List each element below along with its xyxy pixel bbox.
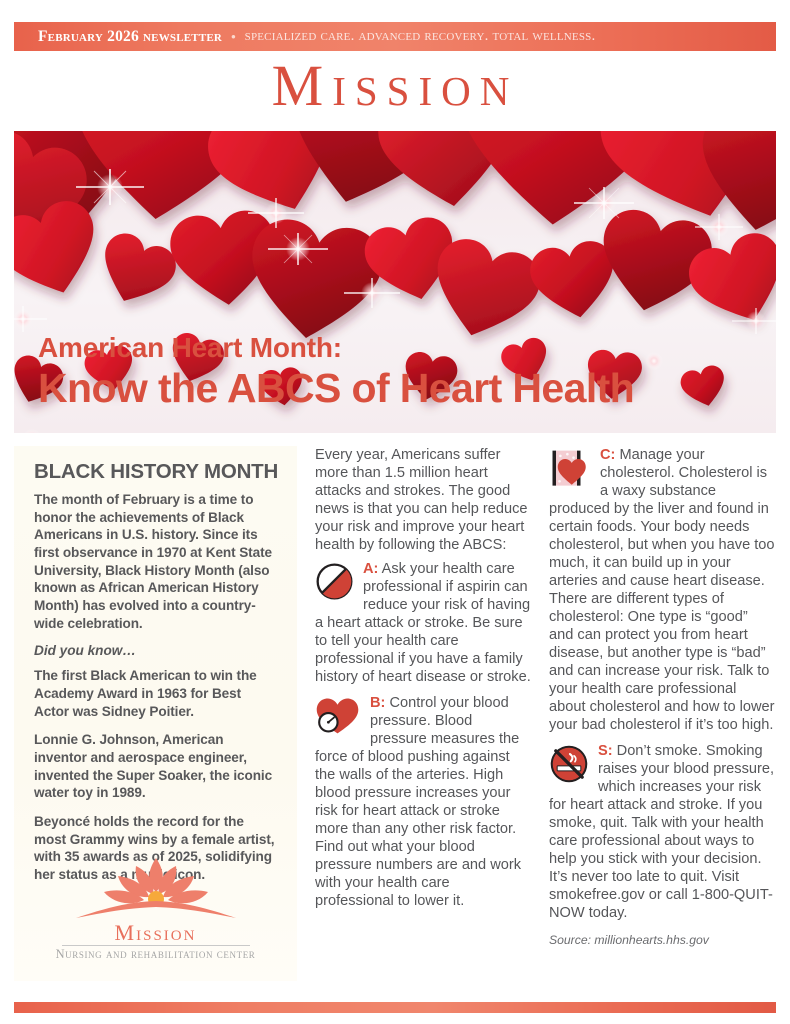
sidebar-title: BLACK HISTORY MONTH	[34, 460, 279, 484]
tagline: Specialized Care. Advanced Recovery. Tot…	[245, 28, 596, 45]
aspirin-pill-icon	[315, 562, 354, 601]
issue-label: February 2026 Newsletter	[38, 28, 222, 46]
abcs-item-c: C: Manage your cholesterol. Cholesterol …	[549, 446, 776, 736]
article-column-middle: Every year, Americans suffer more than 1…	[315, 446, 531, 917]
newsletter-page: February 2026 Newsletter • Specialized C…	[0, 0, 790, 1024]
masthead: Mission	[0, 56, 790, 117]
abcs-item-a: A: Ask your health care professional if …	[315, 560, 531, 688]
article-column-right: C: Manage your cholesterol. Cholesterol …	[549, 446, 776, 948]
hero-kicker: American Heart Month:	[38, 332, 758, 364]
no-smoking-icon	[549, 744, 589, 784]
lotus-flower-icon	[56, 852, 256, 924]
abcs-letter-a: A:	[363, 561, 378, 577]
bottom-banner	[14, 1002, 776, 1013]
abcs-letter-s: S:	[598, 743, 613, 759]
content-columns: BLACK HISTORY MONTH The month of Februar…	[14, 446, 776, 981]
abcs-letter-c: C:	[600, 447, 615, 463]
logo-divider	[62, 945, 250, 946]
top-banner: February 2026 Newsletter • Specialized C…	[14, 22, 776, 51]
banner-separator-dot: •	[231, 29, 236, 44]
sidebar-did-you-know: Did you know…	[34, 643, 279, 658]
company-logo: Mission Nursing and Rehabilitation Cente…	[14, 852, 297, 977]
black-history-month-sidebar: BLACK HISTORY MONTH The month of Februar…	[14, 446, 297, 981]
article-lead: Every year, Americans suffer more than 1…	[315, 446, 531, 554]
heart-blood-pressure-gauge-icon	[315, 696, 361, 738]
hero-headline: Know the ABCS of Heart Health	[38, 366, 758, 412]
sidebar-fact: The first Black American to win the Acad…	[34, 667, 279, 720]
artery-cholesterol-heart-icon	[549, 448, 591, 490]
logo-name: Mission	[14, 922, 297, 944]
sidebar-fact: Lonnie G. Johnson, American inventor and…	[34, 731, 279, 802]
masthead-title: Mission	[0, 56, 790, 117]
abcs-item-s: S: Don’t smoke. Smoking raises your bloo…	[549, 742, 776, 924]
abcs-letter-b: B:	[370, 695, 385, 711]
hero-headline-block: American Heart Month: Know the ABCS of H…	[38, 332, 758, 412]
sidebar-intro: The month of February is a time to honor…	[34, 491, 279, 632]
logo-subtitle: Nursing and Rehabilitation Center	[14, 948, 297, 960]
abcs-item-b: B: Control your blood pressure. Blood pr…	[315, 694, 531, 912]
article-source: Source: millionhearts.hhs.gov	[549, 933, 776, 948]
